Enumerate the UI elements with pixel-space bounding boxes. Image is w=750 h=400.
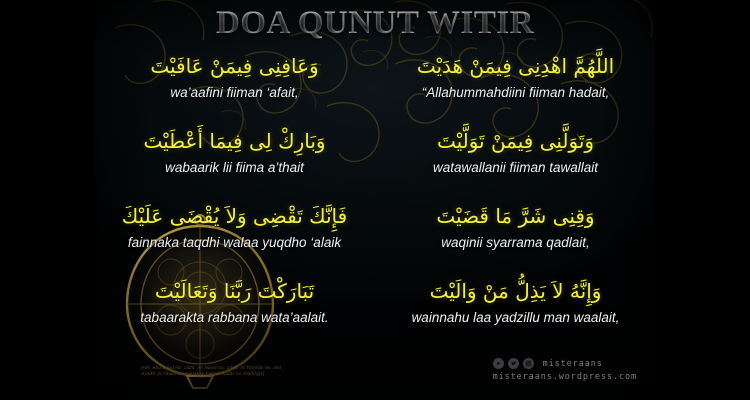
arabic-text: وَبَارِكْ لِى فِيمَا أَعْطَيْتَ bbox=[101, 123, 368, 159]
verse-half-right: وَتَوَلَّنِى فِيمَنْ تَوَلَّيْتَ watawal… bbox=[378, 123, 653, 177]
verse-row: وَإِنَّهُ لاَ يَذِلُّ مَنْ وَالَيْتَ wai… bbox=[95, 273, 655, 348]
slide-canvas: DOA QUNUT WITIR اللَّهُمَّ اهْدِنِى فِيم… bbox=[95, 0, 655, 400]
verse-row: وَقِنِى شَرَّ مَا قَضَيْتَ waqinii syarr… bbox=[95, 198, 655, 273]
verse-half-left: وَعَافِنِى فِيمَنْ عَافَيْتَ wa’aafini f… bbox=[97, 48, 372, 102]
verse-row: اللَّهُمَّ اهْدِنِى فِيمَنْ هَدَيْتَ “Al… bbox=[95, 48, 655, 123]
transliteration-text: fainnaka taqdhi walaa yuqdho ‘alaik bbox=[101, 234, 368, 252]
twitter-icon[interactable] bbox=[508, 358, 519, 369]
arabic-text: اللَّهُمَّ اهْدِنِى فِيمَنْ هَدَيْتَ bbox=[382, 48, 649, 84]
arabic-text: وَعَافِنِى فِيمَنْ عَافَيْتَ bbox=[101, 48, 368, 84]
instagram-icon[interactable] bbox=[523, 358, 534, 369]
transliteration-text: waqinii syarrama qadlait, bbox=[382, 234, 649, 252]
verse-half-left: تَبَارَكْتَ رَبَّنَا وَتَعَالَيْتَ tabaa… bbox=[97, 273, 372, 327]
arabic-text: وَإِنَّهُ لاَ يَذِلُّ مَنْ وَالَيْتَ bbox=[382, 273, 649, 309]
footnote-line-2: Syaikh Al Albani mengatakan bahwa hadits… bbox=[141, 371, 451, 377]
transliteration-text: wainnahu laa yadzillu man waalait, bbox=[382, 309, 649, 327]
watermark: misteraans misteraans.wordpress.com bbox=[493, 358, 637, 382]
verse-half-right: وَقِنِى شَرَّ مَا قَضَيْتَ waqinii syarr… bbox=[378, 198, 653, 252]
page-title: DOA QUNUT WITIR bbox=[95, 3, 655, 43]
arabic-text: وَتَوَلَّنِى فِيمَنْ تَوَلَّيْتَ bbox=[382, 123, 649, 159]
transliteration-text: tabaarakta rabbana wata’aalait. bbox=[101, 309, 368, 327]
arabic-text: وَقِنِى شَرَّ مَا قَضَيْتَ bbox=[382, 198, 649, 234]
watermark-social-row: misteraans bbox=[493, 358, 637, 369]
source-footnote: (HR. Abu Daud no. 1425, An Nasai no. 174… bbox=[141, 365, 451, 377]
arabic-text: تَبَارَكْتَ رَبَّنَا وَتَعَالَيْتَ bbox=[101, 273, 368, 309]
verse-half-right: اللَّهُمَّ اهْدِنِى فِيمَنْ هَدَيْتَ “Al… bbox=[378, 48, 653, 102]
watermark-url: misteraans.wordpress.com bbox=[493, 372, 637, 382]
letterbox-right bbox=[655, 0, 750, 400]
verse-list: اللَّهُمَّ اهْدِنِى فِيمَنْ هَدَيْتَ “Al… bbox=[95, 48, 655, 348]
arabic-text: فَإِنَّكَ تَقْضِى وَلاَ يُقْضَى عَلَيْكَ bbox=[101, 198, 368, 234]
verse-half-left: وَبَارِكْ لِى فِيمَا أَعْطَيْتَ wabaarik… bbox=[97, 123, 372, 177]
transliteration-text: wabaarik lii fiima a’thait bbox=[101, 159, 368, 177]
verse-row: وَتَوَلَّنِى فِيمَنْ تَوَلَّيْتَ watawal… bbox=[95, 123, 655, 198]
watermark-handle: misteraans bbox=[543, 359, 603, 369]
slide-root: DOA QUNUT WITIR اللَّهُمَّ اهْدِنِى فِيم… bbox=[0, 0, 750, 400]
verse-half-right: وَإِنَّهُ لاَ يَذِلُّ مَنْ وَالَيْتَ wai… bbox=[378, 273, 653, 327]
transliteration-text: wa’aafini fiiman ‘afait, bbox=[101, 84, 368, 102]
youtube-icon[interactable] bbox=[493, 358, 504, 369]
verse-half-left: فَإِنَّكَ تَقْضِى وَلاَ يُقْضَى عَلَيْكَ… bbox=[97, 198, 372, 252]
transliteration-text: “Allahummahdiini fiiman hadait, bbox=[382, 84, 649, 102]
letterbox-left bbox=[0, 0, 95, 400]
transliteration-text: watawallanii fiiman tawallait bbox=[382, 159, 649, 177]
